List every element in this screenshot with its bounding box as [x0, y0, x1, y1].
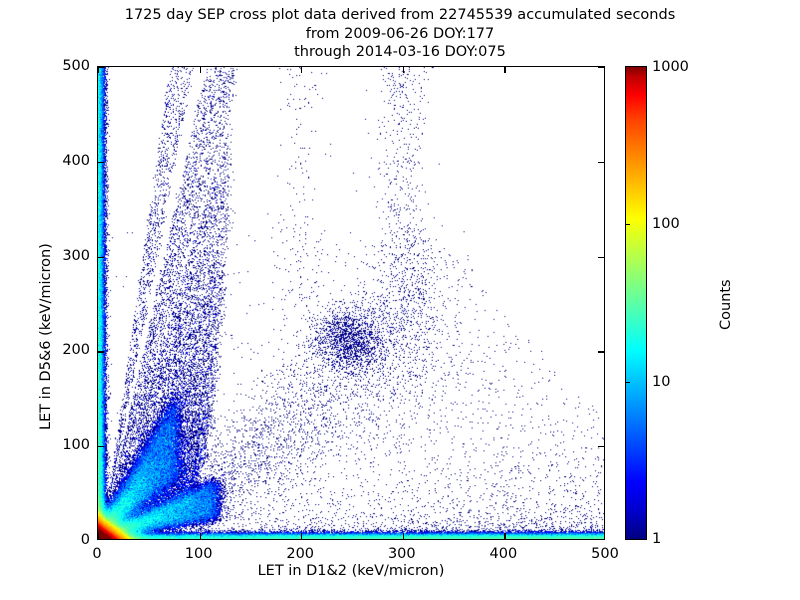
y-tick-label-500: 500	[35, 58, 90, 74]
x-tick-100	[200, 533, 201, 539]
colorbar-tick-100	[625, 224, 630, 225]
colorbar-tick-10	[625, 382, 630, 383]
y-tick-100	[98, 446, 104, 447]
y-tick-right-400	[598, 162, 604, 163]
y-tick-right-300	[598, 257, 604, 258]
x-tick-label-300: 300	[388, 546, 416, 562]
y-tick-right-500	[598, 67, 604, 68]
colorbar-tick-label-100: 100	[652, 216, 680, 232]
colorbar-tick-label-1: 1	[652, 531, 661, 547]
colorbar-tick-label-1000: 1000	[652, 59, 689, 75]
scatter-density-heatmap	[98, 67, 604, 539]
x-tick-label-100: 100	[185, 546, 213, 562]
x-tick-400	[504, 533, 505, 539]
figure-canvas: 1725 day SEP cross plot data derived fro…	[0, 0, 800, 600]
colorbar-gradient	[625, 66, 647, 540]
y-tick-right-200	[598, 351, 604, 352]
plot-title-line-2: from 2009-06-26 DOY:177	[0, 25, 800, 44]
y-axis-label: LET in D5&6 (keV/micron)	[38, 243, 54, 430]
x-tick-0	[98, 533, 99, 539]
y-tick-300	[98, 257, 104, 258]
x-tick-label-0: 0	[92, 546, 101, 562]
x-tick-label-500: 500	[591, 546, 619, 562]
x-tick-top-200	[301, 67, 302, 73]
x-tick-top-400	[504, 67, 505, 73]
x-tick-label-200: 200	[286, 546, 314, 562]
x-tick-top-300	[403, 67, 404, 73]
colorbar-container	[625, 66, 647, 540]
y-tick-200	[98, 351, 104, 352]
plot-axes	[97, 66, 605, 540]
plot-title-line-1: 1725 day SEP cross plot data derived fro…	[0, 6, 800, 25]
plot-title: 1725 day SEP cross plot data derived fro…	[0, 6, 800, 62]
x-tick-label-400: 400	[490, 546, 518, 562]
y-tick-label-100: 100	[35, 437, 90, 453]
colorbar-tick-label-10: 10	[652, 374, 670, 390]
x-tick-200	[301, 533, 302, 539]
x-tick-top-100	[200, 67, 201, 73]
x-axis-label: LET in D1&2 (keV/micron)	[97, 563, 605, 579]
y-tick-label-400: 400	[35, 153, 90, 169]
y-tick-label-0: 0	[35, 532, 90, 548]
colorbar-axis-label: Counts	[718, 279, 734, 330]
y-tick-500	[98, 67, 104, 68]
x-tick-300	[403, 533, 404, 539]
y-tick-right-100	[598, 446, 604, 447]
y-tick-400	[98, 162, 104, 163]
